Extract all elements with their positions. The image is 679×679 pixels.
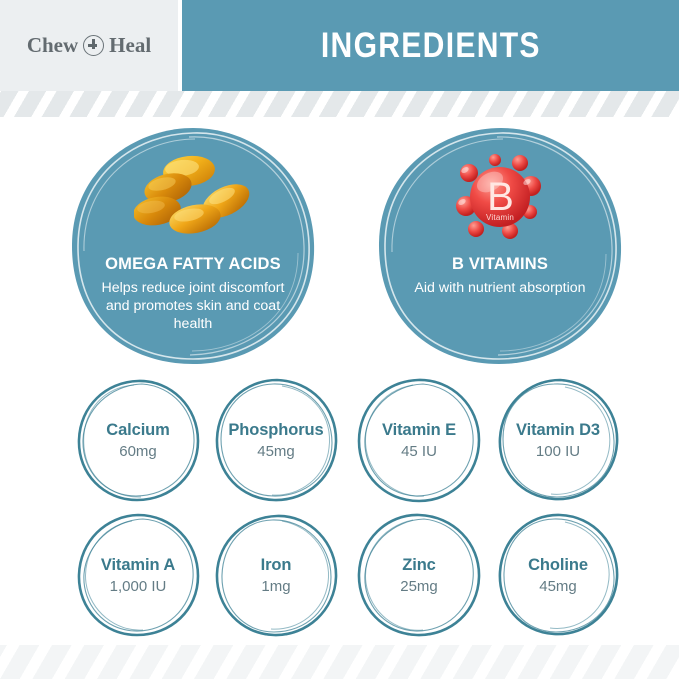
brand-logo: Chew Heal xyxy=(27,35,151,56)
feature-content: OMEGA FATTY ACIDS Helps reduce joint dis… xyxy=(68,125,318,367)
nutrient-name: Vitamin A xyxy=(101,556,175,575)
nutrient-name: Choline xyxy=(528,556,588,575)
nutrient-name: Calcium xyxy=(106,421,170,440)
nutrient-circle-vitamin-a: Vitamin A 1,000 IU xyxy=(72,509,204,641)
nutrient-circle-calcium: Calcium 60mg xyxy=(72,374,204,506)
nutrient-circle-iron: Iron 1mg xyxy=(210,509,342,641)
nutrient-name: Zinc xyxy=(402,556,436,575)
nutrient-amount: 60mg xyxy=(119,443,157,460)
nutrient-name: Vitamin D3 xyxy=(516,421,600,440)
b-vitamin-sphere-icon: B Vitamin xyxy=(448,149,552,249)
nutrient-amount: 45 IU xyxy=(401,443,437,460)
feature-content: B Vitamin B VITAMINS Aid with nutrient a… xyxy=(375,125,625,367)
nutrient-content: Phosphorus 45mg xyxy=(210,374,342,506)
nutrient-circle-vitamin-e: Vitamin E 45 IU xyxy=(353,374,485,506)
nutrient-amount: 25mg xyxy=(400,578,438,595)
nutrient-content: Iron 1mg xyxy=(210,509,342,641)
nutrient-circle-phosphorus: Phosphorus 45mg xyxy=(210,374,342,506)
feature-description: Aid with nutrient absorption xyxy=(414,279,585,297)
brand-logo-word-heal: Heal xyxy=(109,35,151,56)
circle-plus-icon xyxy=(83,35,104,56)
stripe-band-top xyxy=(0,91,679,117)
page-title: INGREDIENTS xyxy=(321,26,541,66)
nutrient-content: Vitamin D3 100 IU xyxy=(492,374,624,506)
b-vitamin-sublabel: Vitamin xyxy=(448,213,552,222)
nutrient-name: Iron xyxy=(261,556,292,575)
nutrient-amount: 45mg xyxy=(257,443,295,460)
content-area: OMEGA FATTY ACIDS Helps reduce joint dis… xyxy=(0,117,679,645)
nutrient-amount: 1mg xyxy=(261,578,290,595)
title-panel: INGREDIENTS xyxy=(182,0,679,91)
nutrient-circle-choline: Choline 45mg xyxy=(492,509,624,641)
feature-title: OMEGA FATTY ACIDS xyxy=(105,255,281,274)
feature-card-b-vitamins: B Vitamin B VITAMINS Aid with nutrient a… xyxy=(375,125,625,367)
brand-logo-panel: Chew Heal xyxy=(0,0,178,91)
brand-logo-word-chew: Chew xyxy=(27,35,78,56)
nutrient-content: Vitamin A 1,000 IU xyxy=(72,509,204,641)
fish-oil-capsules-icon xyxy=(134,149,252,249)
nutrient-circle-zinc: Zinc 25mg xyxy=(353,509,485,641)
nutrient-content: Vitamin E 45 IU xyxy=(353,374,485,506)
nutrient-content: Choline 45mg xyxy=(492,509,624,641)
feature-card-omega-fatty-acids: OMEGA FATTY ACIDS Helps reduce joint dis… xyxy=(68,125,318,367)
feature-title: B VITAMINS xyxy=(452,255,548,274)
ingredients-infographic: Chew Heal INGREDIENTS xyxy=(0,0,679,679)
nutrient-amount: 45mg xyxy=(539,578,577,595)
nutrient-amount: 100 IU xyxy=(536,443,580,460)
nutrient-name: Vitamin E xyxy=(382,421,456,440)
nutrient-amount: 1,000 IU xyxy=(110,578,167,595)
stripe-band-bottom xyxy=(0,645,679,679)
header: Chew Heal INGREDIENTS xyxy=(0,0,679,91)
nutrient-content: Calcium 60mg xyxy=(72,374,204,506)
nutrient-name: Phosphorus xyxy=(228,421,323,440)
feature-description: Helps reduce joint discomfort and promot… xyxy=(91,279,296,333)
nutrient-content: Zinc 25mg xyxy=(353,509,485,641)
nutrient-circle-vitamin-d3: Vitamin D3 100 IU xyxy=(492,374,624,506)
